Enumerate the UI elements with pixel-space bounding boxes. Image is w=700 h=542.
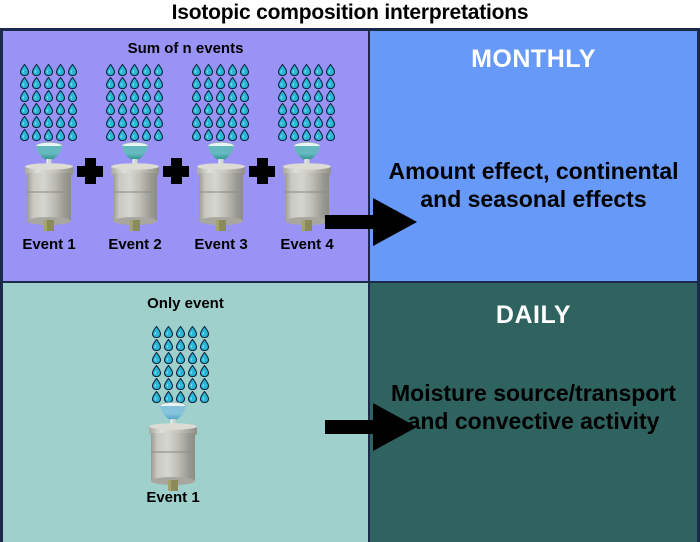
raindrop-icon xyxy=(326,116,335,128)
raindrop-icon xyxy=(200,326,209,338)
right-block-arrow-icon xyxy=(325,403,417,451)
event-label-daily-1: Event 1 xyxy=(130,489,216,506)
raindrop-icon xyxy=(228,103,237,115)
raindrop-icon xyxy=(152,339,161,351)
plus-operator-icon-1 xyxy=(77,158,103,184)
raindrop-icon xyxy=(44,77,53,89)
raindrop-icon xyxy=(326,103,335,115)
raindrop-icon xyxy=(204,90,213,102)
raindrop-icon xyxy=(32,64,41,76)
raindrop-icon xyxy=(216,116,225,128)
raindrop-icon xyxy=(20,90,29,102)
raindrop-icon xyxy=(188,365,197,377)
raindrop-icon xyxy=(56,77,65,89)
raindrop-icon xyxy=(56,90,65,102)
raindrop-icon xyxy=(216,90,225,102)
raindrop-icon xyxy=(228,116,237,128)
raindrop-icon xyxy=(192,116,201,128)
raindrop-icon xyxy=(130,64,139,76)
raindrop-icon xyxy=(154,64,163,76)
plus-operator-icon-2 xyxy=(163,158,189,184)
raindrop-icon xyxy=(192,90,201,102)
period-heading-monthly: MONTHLY xyxy=(370,45,697,74)
raindrop-icon xyxy=(192,77,201,89)
raindrop-icon xyxy=(152,326,161,338)
raindrop-icon xyxy=(44,116,53,128)
raindrop-icon xyxy=(302,116,311,128)
raindrop-icon xyxy=(154,116,163,128)
raindrop-icon xyxy=(164,339,173,351)
raindrop-icon xyxy=(106,90,115,102)
raindrop-icon xyxy=(56,103,65,115)
period-heading-daily: DAILY xyxy=(370,301,697,330)
raindrop-icon xyxy=(164,378,173,390)
raindrop-icon xyxy=(164,352,173,364)
raindrop-icon xyxy=(192,64,201,76)
daily-effects-text: Moisture source/transport and convective… xyxy=(370,379,697,435)
raindrop-icon xyxy=(204,116,213,128)
raindrop-icon xyxy=(68,77,77,89)
plus-operator-icon-3 xyxy=(249,158,275,184)
raindrop-icon xyxy=(130,77,139,89)
raindrop-icon xyxy=(278,116,287,128)
raindrop-icon xyxy=(290,77,299,89)
monthly-effects-text: Amount effect, continental and seasonal … xyxy=(370,157,697,213)
raindrop-icon xyxy=(278,90,287,102)
rain-gauge-collector-daily-event xyxy=(143,399,203,495)
raindrop-icon xyxy=(192,103,201,115)
raindrop-icon xyxy=(32,116,41,128)
raindrop-icon xyxy=(278,103,287,115)
raindrop-group-event-4 xyxy=(276,63,336,141)
raindrop-group-daily-event xyxy=(150,325,210,403)
raindrop-icon xyxy=(20,64,29,76)
raindrop-icon xyxy=(216,77,225,89)
raindrop-icon xyxy=(106,77,115,89)
raindrop-icon xyxy=(44,64,53,76)
raindrop-icon xyxy=(142,116,151,128)
raindrop-icon xyxy=(188,339,197,351)
raindrop-icon xyxy=(188,326,197,338)
raindrop-icon xyxy=(290,103,299,115)
event-label-1: Event 1 xyxy=(6,236,92,253)
raindrop-icon xyxy=(240,77,249,89)
raindrop-icon xyxy=(106,116,115,128)
rain-gauge-collector-event-2 xyxy=(105,139,165,235)
raindrop-icon xyxy=(154,77,163,89)
raindrop-icon xyxy=(20,103,29,115)
raindrop-icon xyxy=(106,64,115,76)
rain-gauge-collector-icon xyxy=(191,139,251,235)
raindrop-icon xyxy=(290,64,299,76)
raindrop-icon xyxy=(68,116,77,128)
raindrop-icon xyxy=(152,365,161,377)
raindrop-icon xyxy=(32,77,41,89)
raindrop-icon xyxy=(176,365,185,377)
raindrop-icon xyxy=(176,378,185,390)
raindrop-icon xyxy=(188,352,197,364)
figure-title: Isotopic composition interpretations xyxy=(0,0,700,28)
raindrop-icon xyxy=(314,77,323,89)
raindrop-icon xyxy=(118,103,127,115)
raindrop-icon xyxy=(240,103,249,115)
raindrop-icon xyxy=(302,64,311,76)
raindrop-group-event-2 xyxy=(104,63,164,141)
raindrop-icon xyxy=(278,77,287,89)
raindrop-icon xyxy=(176,339,185,351)
raindrop-icon xyxy=(240,116,249,128)
raindrop-icon xyxy=(142,64,151,76)
rain-gauge-collector-icon xyxy=(105,139,165,235)
raindrop-icon xyxy=(164,326,173,338)
raindrop-icon xyxy=(204,64,213,76)
raindrop-icon xyxy=(68,103,77,115)
raindrop-icon xyxy=(204,103,213,115)
panel-caption-sum-of-events: Sum of n events xyxy=(3,40,368,57)
raindrop-icon xyxy=(20,116,29,128)
raindrop-icon xyxy=(314,64,323,76)
raindrop-icon xyxy=(118,77,127,89)
raindrop-icon xyxy=(130,90,139,102)
raindrop-icon xyxy=(68,90,77,102)
panel-daily-interpretation: DAILY Moisture source/transport and conv… xyxy=(370,283,700,542)
raindrop-icon xyxy=(200,352,209,364)
rain-gauge-collector-icon xyxy=(143,399,203,495)
raindrop-icon xyxy=(154,90,163,102)
raindrop-icon xyxy=(118,64,127,76)
raindrop-icon xyxy=(228,90,237,102)
raindrop-icon xyxy=(44,90,53,102)
raindrop-icon xyxy=(130,103,139,115)
raindrop-icon xyxy=(142,103,151,115)
raindrop-icon xyxy=(216,103,225,115)
raindrop-icon xyxy=(200,365,209,377)
raindrop-icon xyxy=(228,77,237,89)
raindrop-icon xyxy=(302,103,311,115)
raindrop-icon xyxy=(228,64,237,76)
raindrop-icon xyxy=(142,90,151,102)
raindrop-icon xyxy=(154,103,163,115)
raindrop-icon xyxy=(278,64,287,76)
raindrop-icon xyxy=(56,64,65,76)
raindrop-group-event-3 xyxy=(190,63,250,141)
raindrop-group-event-1 xyxy=(18,63,78,141)
raindrop-icon xyxy=(118,90,127,102)
raindrop-icon xyxy=(326,64,335,76)
raindrop-icon xyxy=(302,77,311,89)
right-block-arrow-monthly xyxy=(325,198,417,246)
raindrop-icon xyxy=(142,77,151,89)
raindrop-icon xyxy=(176,326,185,338)
right-block-arrow-icon xyxy=(325,198,417,246)
raindrop-icon xyxy=(20,77,29,89)
event-label-3: Event 3 xyxy=(178,236,264,253)
panel-daily-sampling: Only event Event 1 xyxy=(0,283,370,542)
raindrop-icon xyxy=(68,64,77,76)
panel-monthly-interpretation: MONTHLY Amount effect, continental and s… xyxy=(370,31,700,283)
raindrop-icon xyxy=(32,90,41,102)
raindrop-icon xyxy=(302,90,311,102)
raindrop-icon xyxy=(204,77,213,89)
raindrop-icon xyxy=(314,90,323,102)
raindrop-icon xyxy=(176,352,185,364)
right-block-arrow-daily xyxy=(325,403,417,451)
rain-gauge-collector-event-1 xyxy=(19,139,79,235)
raindrop-icon xyxy=(290,116,299,128)
raindrop-icon xyxy=(56,116,65,128)
raindrop-icon xyxy=(152,378,161,390)
raindrop-icon xyxy=(152,352,161,364)
raindrop-icon xyxy=(44,103,53,115)
panel-grid: Sum of n events Event 1 Event 2 Event 3 … xyxy=(0,28,700,539)
event-label-2: Event 2 xyxy=(92,236,178,253)
raindrop-icon xyxy=(326,90,335,102)
raindrop-icon xyxy=(240,64,249,76)
raindrop-icon xyxy=(164,365,173,377)
raindrop-icon xyxy=(200,378,209,390)
raindrop-icon xyxy=(326,77,335,89)
raindrop-icon xyxy=(188,378,197,390)
raindrop-icon xyxy=(32,103,41,115)
raindrop-icon xyxy=(200,339,209,351)
raindrop-icon xyxy=(118,116,127,128)
raindrop-icon xyxy=(106,103,115,115)
raindrop-icon xyxy=(240,90,249,102)
raindrop-icon xyxy=(216,64,225,76)
rain-gauge-collector-event-3 xyxy=(191,139,251,235)
raindrop-icon xyxy=(314,116,323,128)
raindrop-icon xyxy=(314,103,323,115)
raindrop-icon xyxy=(130,116,139,128)
panel-caption-only-event: Only event xyxy=(3,295,368,312)
panel-monthly-sampling: Sum of n events Event 1 Event 2 Event 3 … xyxy=(0,31,370,283)
figure-root: Isotopic composition interpretations Sum… xyxy=(0,0,700,539)
rain-gauge-collector-icon xyxy=(19,139,79,235)
raindrop-icon xyxy=(290,90,299,102)
